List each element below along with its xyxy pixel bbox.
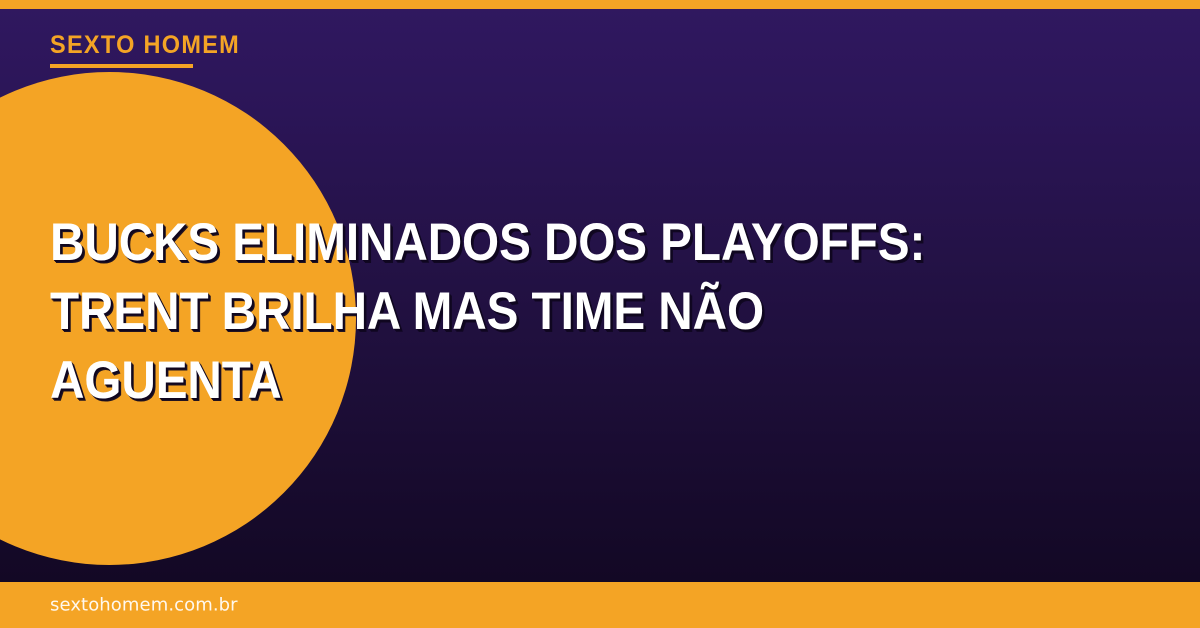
site-url[interactable]: sextohomem.com.br bbox=[50, 595, 238, 616]
headline-line-2: TRENT BRILHA MAS TIME NÃO bbox=[50, 277, 1031, 346]
footer-bar: sextohomem.com.br bbox=[0, 582, 1200, 628]
headline-line-3: AGUENTA bbox=[50, 346, 1031, 415]
headline-line-1: BUCKS ELIMINADOS DOS PLAYOFFS: bbox=[50, 208, 1031, 277]
orange-top-bar bbox=[0, 0, 1200, 9]
brand-lockup[interactable]: SEXTO HOMEM bbox=[50, 32, 252, 68]
brand-name: SEXTO HOMEM bbox=[50, 32, 240, 58]
page-title: BUCKS ELIMINADOS DOS PLAYOFFS: TRENT BRI… bbox=[50, 208, 1140, 415]
brand-underline bbox=[50, 64, 193, 68]
social-share-card: SEXTO HOMEM BUCKS ELIMINADOS DOS PLAYOFF… bbox=[0, 0, 1200, 628]
